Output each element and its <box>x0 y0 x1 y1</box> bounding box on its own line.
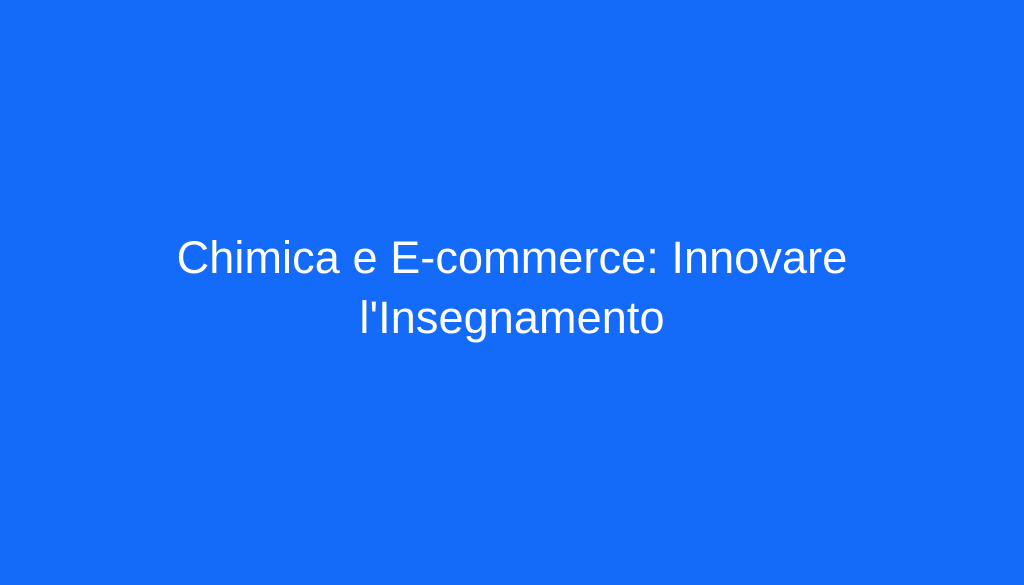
hero-title-container: Chimica e E-commerce: Innovare l'Insegna… <box>162 228 862 348</box>
page-title: Chimica e E-commerce: Innovare l'Insegna… <box>162 228 862 348</box>
hero-banner: Chimica e E-commerce: Innovare l'Insegna… <box>0 0 1024 585</box>
